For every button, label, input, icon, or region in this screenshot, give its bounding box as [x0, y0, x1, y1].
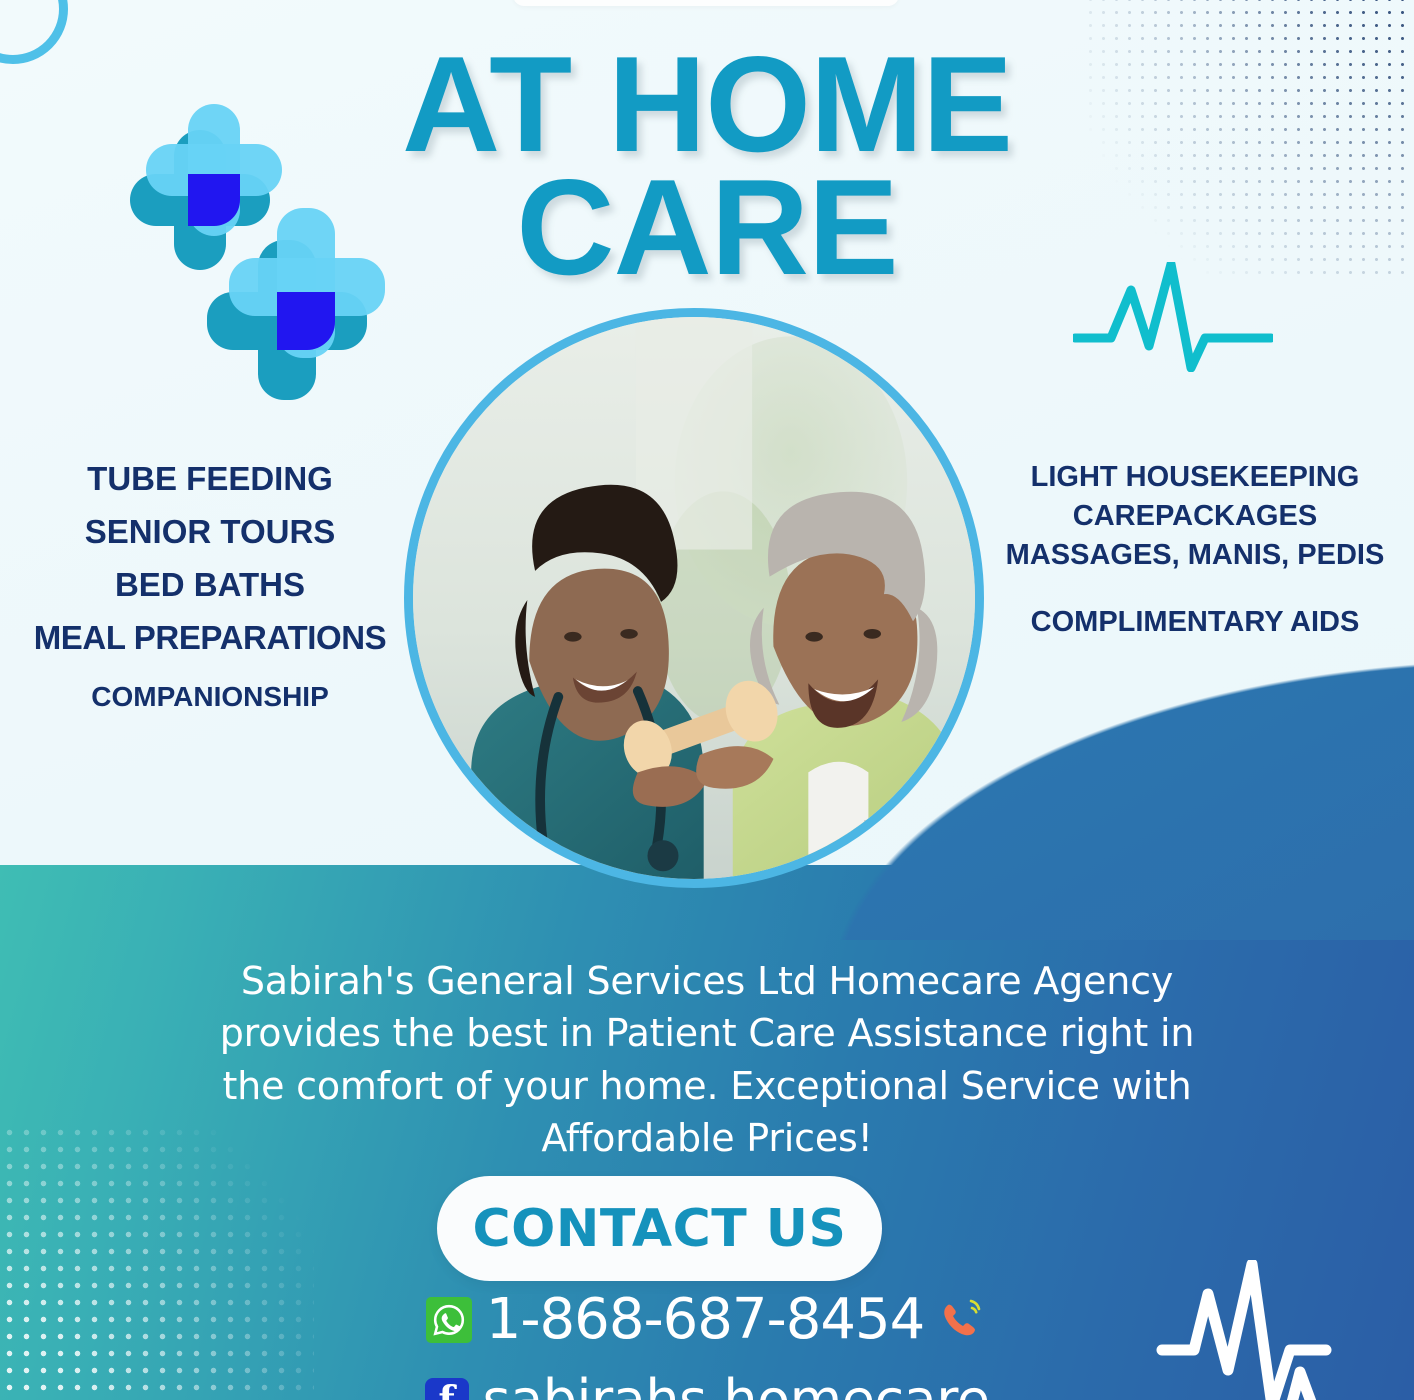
halftone-dots-top-right: [1084, 0, 1414, 280]
flyer-canvas: AT HOME CARE: [0, 0, 1414, 1400]
halftone-dots-bottom-left: [0, 1124, 314, 1400]
top-rounded-bar: [513, 0, 899, 6]
service-item: MASSAGES, MANIS, PEDIS: [975, 538, 1414, 572]
services-list-right: LIGHT HOUSEKEEPING CAREPACKAGES MASSAGES…: [975, 460, 1414, 644]
service-item: COMPANIONSHIP: [0, 680, 420, 713]
whatsapp-icon[interactable]: [426, 1297, 472, 1343]
medical-crosses-group: [130, 130, 380, 380]
service-item: COMPLIMENTARY AIDS: [975, 605, 1414, 639]
services-list-left: TUBE FEEDING SENIOR TOURS BED BATHS MEAL…: [0, 460, 420, 727]
contact-us-button[interactable]: CONTACT US: [437, 1176, 882, 1281]
facebook-icon[interactable]: f: [425, 1378, 469, 1400]
service-item: BED BATHS: [0, 566, 420, 605]
photo-illustration: [413, 317, 975, 879]
phone-number[interactable]: 1-868-687-8454: [486, 1292, 925, 1348]
facebook-handle[interactable]: sabirahs homecare: [483, 1368, 990, 1400]
phone-ringing-icon: [938, 1295, 988, 1345]
description-text: Sabirah's General Services Ltd Homecare …: [207, 955, 1207, 1165]
medical-cross-icon: [207, 240, 367, 400]
service-item: SENIOR TOURS: [0, 513, 420, 552]
nurse-with-senior-patient-photo: [404, 308, 984, 888]
service-item: TUBE FEEDING: [0, 460, 420, 499]
heartbeat-line-icon: [1073, 262, 1273, 372]
heartbeat-line-icon: [1150, 1260, 1414, 1400]
service-item: LIGHT HOUSEKEEPING: [975, 460, 1414, 494]
service-item: MEAL PREPARATIONS: [0, 619, 420, 658]
contact-us-label: CONTACT US: [473, 1199, 847, 1259]
service-item: CAREPACKAGES: [975, 499, 1414, 533]
